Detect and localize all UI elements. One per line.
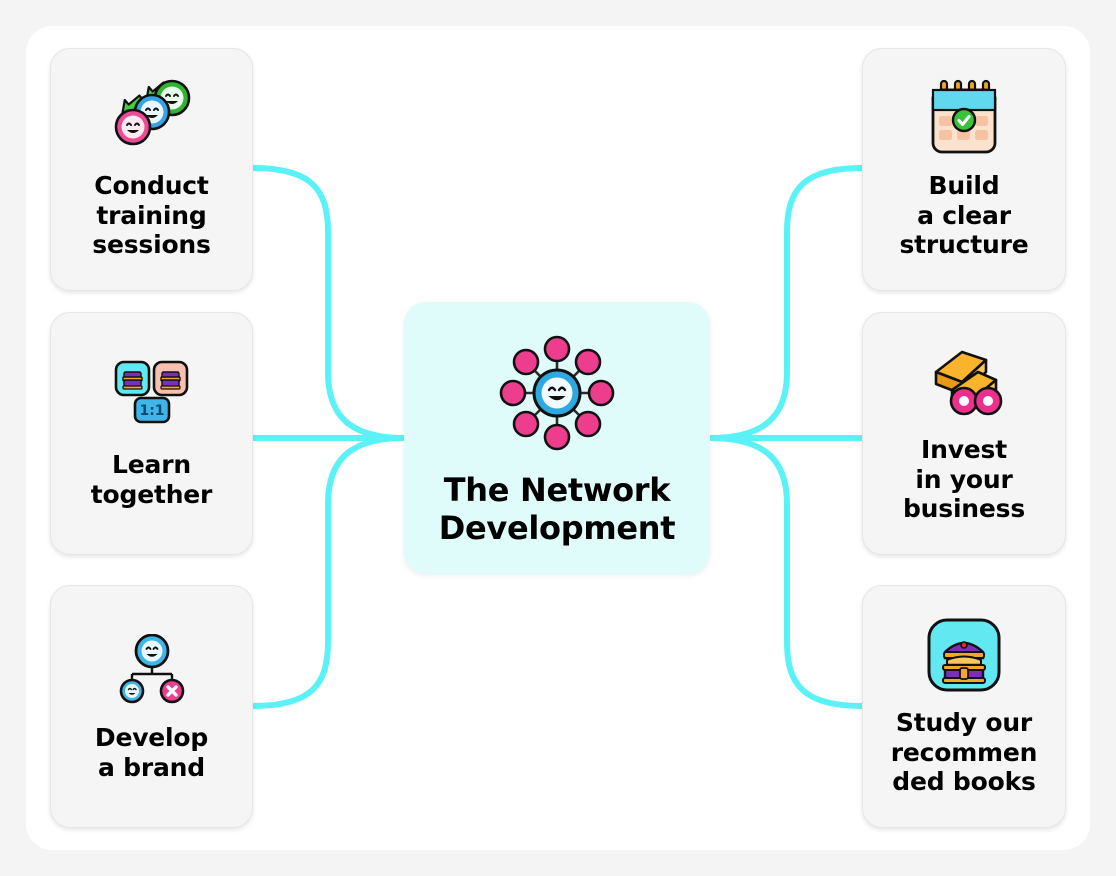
card-invest-in-your-business[interactable]: Invest in your business <box>862 312 1066 555</box>
card-label: Build a clear structure <box>899 171 1028 260</box>
treasure-chest-icon <box>921 612 1007 698</box>
card-conduct-training-sessions[interactable]: Conduct training sessions <box>50 48 253 291</box>
network-hub-icon <box>489 328 625 458</box>
card-label: Study our recommen ded books <box>891 708 1038 797</box>
card-label: Invest in your business <box>903 435 1025 524</box>
card-label: Conduct training sessions <box>92 171 210 260</box>
mindmap-canvas: Conduct training sessions <box>0 0 1116 876</box>
two-chests-one-to-one-icon: 1:1 <box>109 354 195 440</box>
center-node-network-development[interactable]: The Network Development <box>404 302 710 574</box>
one-to-one-badge-text: 1:1 <box>139 403 164 419</box>
hierarchy-tree-icon <box>109 627 195 713</box>
center-node-title: The Network Development <box>439 472 676 548</box>
calendar-check-icon <box>921 75 1007 161</box>
card-label: Learn together <box>91 450 212 509</box>
card-learn-together[interactable]: 1:1 Learn together <box>50 312 253 555</box>
card-build-a-clear-structure[interactable]: Build a clear structure <box>862 48 1066 291</box>
three-smiley-avatars-icon <box>109 75 195 161</box>
card-develop-a-brand[interactable]: Develop a brand <box>50 585 253 828</box>
card-study-recommended-books[interactable]: Study our recommen ded books <box>862 585 1066 828</box>
card-label: Develop a brand <box>95 723 208 782</box>
gold-bars-infinity-icon <box>921 339 1007 425</box>
